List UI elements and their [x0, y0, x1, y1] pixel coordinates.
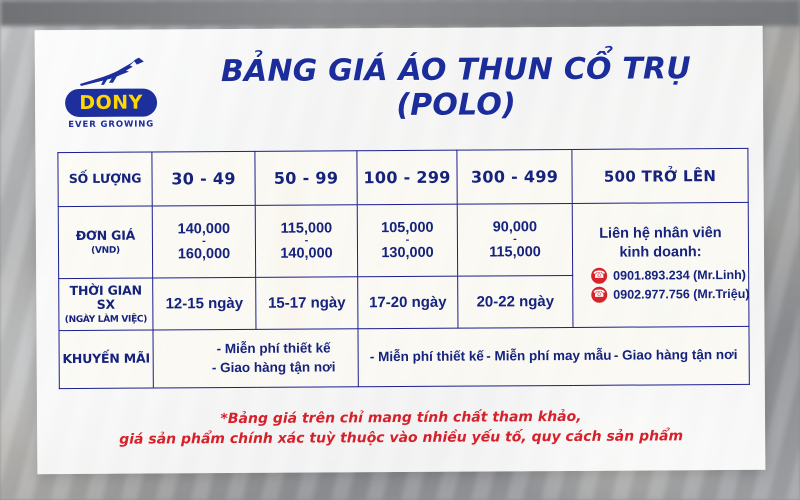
price-sep-4: -: [460, 236, 570, 243]
promotion-small-line1: - Miễn phí thiết kế: [190, 340, 358, 359]
promotion-large-item-1: - Miễn phí thiết kế: [370, 348, 484, 367]
row-label-promotion: KHUYẾN MÃI: [59, 330, 153, 389]
sales-contact-cell: Liên hệ nhân viên kinh doanh: ☎ 0901.893…: [572, 202, 749, 327]
price-sep-1: -: [155, 238, 253, 245]
table-row-quantity: SỐ LƯỢNG 30 - 49 50 - 99 100 - 299 300 -…: [58, 148, 748, 206]
price-cell-2: 115,000 - 140,000: [255, 205, 357, 278]
promotion-large-orders: - Miễn phí thiết kế - Miễn phí may mẫu -…: [358, 326, 749, 386]
price-to-4: 115,000: [489, 244, 541, 260]
quantity-tier-1: 30 - 49: [152, 151, 255, 206]
price-sep-2: -: [258, 237, 355, 244]
table-row-price: ĐƠN GIÁ (VND) 140,000 - 160,000 115,000 …: [58, 202, 748, 278]
price-to-1: 160,000: [178, 246, 231, 262]
quantity-tier-5: 500 TRỞ LÊN: [572, 148, 748, 203]
leadtime-cell-1: 12-15 ngày: [153, 277, 256, 330]
row-label-price-unit: (VND): [61, 245, 150, 256]
row-label-leadtime: THỜI GIAN SX (NGÀY LÀM VIỆC): [59, 278, 153, 331]
background-ceiling-band: [0, 0, 800, 26]
disclaimer-line2: giá sản phẩm chính xác tuỳ thuộc vào nhi…: [59, 426, 743, 450]
promotion-small-line2: - Giao hàng tận nơi: [190, 358, 358, 377]
price-table: SỐ LƯỢNG 30 - 49 50 - 99 100 - 299 300 -…: [57, 148, 749, 389]
price-to-2: 140,000: [280, 245, 333, 261]
contact-heading-line1: Liên hệ nhân viên: [577, 224, 744, 243]
row-label-leadtime-main: THỜI GIAN SX: [70, 283, 142, 313]
contact-phone-2[interactable]: ☎ 0902.977.756 (Mr.Triệu): [577, 286, 744, 303]
phone-icon: ☎: [591, 286, 607, 302]
promotion-large-item-2: - Miễn phí may mẫu: [486, 347, 611, 366]
dony-wordmark: DONY: [79, 93, 143, 112]
price-board-content: DONY EVER GROWING BẢNG GIÁ ÁO THUN CỔ TR…: [35, 26, 766, 474]
quantity-tier-2: 50 - 99: [255, 151, 357, 206]
leadtime-cell-3: 17-20 ngày: [358, 276, 458, 329]
price-sep-3: -: [360, 237, 455, 244]
price-board-card: DONY EVER GROWING BẢNG GIÁ ÁO THUN CỔ TR…: [35, 26, 766, 474]
promotion-large-item-3: - Giao hàng tận nơi: [614, 346, 738, 365]
contact-phone-2-number: 0902.977.756 (Mr.Triệu): [613, 286, 749, 301]
dony-logo: DONY EVER GROWING: [57, 55, 165, 130]
quantity-tier-4: 300 - 499: [457, 149, 572, 204]
quantity-tier-3: 100 - 299: [357, 150, 457, 205]
bird-arrow-icon: [76, 56, 146, 88]
leadtime-cell-2: 15-17 ngày: [256, 277, 358, 330]
contact-heading-line2: kinh doanh:: [577, 242, 744, 261]
table-row-promotion: KHUYẾN MÃI - Miễn phí thiết kế - Giao hà…: [59, 326, 749, 388]
promotion-large-list: - Miễn phí thiết kế - Miễn phí may mẫu -…: [359, 346, 749, 367]
dony-logo-badge: DONY: [65, 88, 157, 117]
promotion-small-orders: - Miễn phí thiết kế - Giao hàng tận nơi: [153, 329, 358, 388]
row-label-price-main: ĐƠN GIÁ: [76, 228, 135, 243]
contact-phone-1-number: 0901.893.234 (Mr.Linh): [613, 268, 746, 283]
board-header: DONY EVER GROWING BẢNG GIÁ ÁO THUN CỔ TR…: [57, 48, 741, 134]
price-cell-1: 140,000 - 160,000: [152, 205, 255, 278]
disclaimer-note: *Bảng giá trên chỉ mang tính chất tham k…: [59, 406, 743, 451]
price-cell-3: 105,000 - 130,000: [357, 204, 457, 277]
leadtime-cell-4: 20-22 ngày: [458, 275, 573, 328]
row-label-leadtime-unit: (NGÀY LÀM VIỆC): [61, 314, 150, 325]
row-label-price: ĐƠN GIÁ (VND): [58, 206, 152, 279]
row-label-quantity: SỐ LƯỢNG: [58, 152, 152, 207]
contact-heading: Liên hệ nhân viên kinh doanh:: [577, 224, 744, 261]
page-title: BẢNG GIÁ ÁO THUN CỔ TRỤ (POLO): [165, 51, 741, 131]
price-cell-4: 90,000 - 115,000: [457, 203, 572, 276]
price-to-3: 130,000: [381, 245, 434, 261]
phone-icon: ☎: [591, 267, 607, 283]
dony-tagline: EVER GROWING: [57, 119, 165, 130]
contact-phone-1[interactable]: ☎ 0901.893.234 (Mr.Linh): [577, 267, 744, 284]
